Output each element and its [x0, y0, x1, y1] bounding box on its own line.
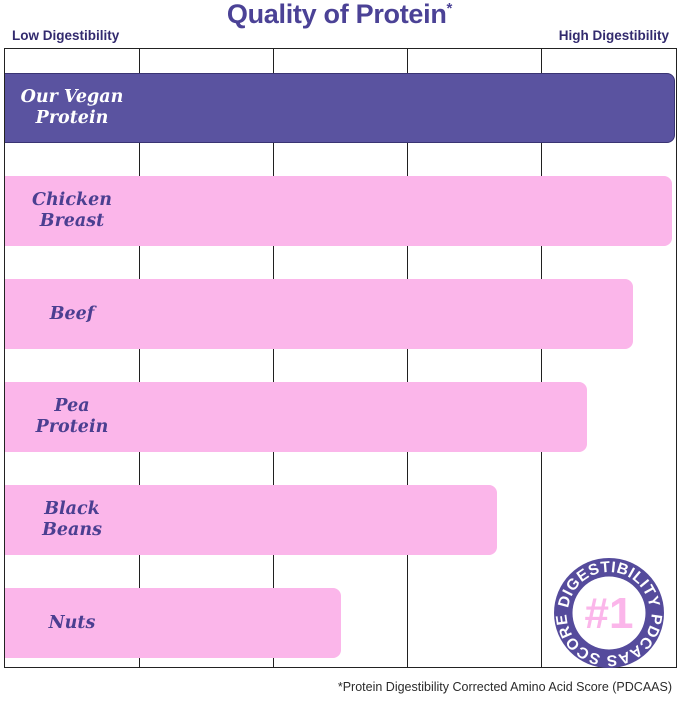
bar-label: Black Beans	[13, 499, 131, 540]
bar-label: Our Vegan Protein	[13, 87, 131, 128]
bar-label: Pea Protein	[13, 396, 131, 437]
bar-label: Beef	[13, 304, 131, 325]
bar-our-vegan-protein: Our Vegan Protein	[5, 73, 675, 143]
pdcaas-score-badge: DIGESTIBILITY PDCAAS SCORE #1	[552, 556, 666, 670]
chart-title: Quality of Protein*	[0, 0, 679, 30]
axis-label-low-digestibility: Low Digestibility	[12, 28, 119, 43]
bar-label: Nuts	[13, 613, 131, 634]
bar-black-beans: Black Beans	[5, 485, 497, 555]
chart-title-text: Quality of Protein	[227, 0, 447, 29]
bar-chicken-breast: Chicken Breast	[5, 176, 672, 246]
bar-nuts: Nuts	[5, 588, 341, 658]
bar-pea-protein: Pea Protein	[5, 382, 587, 452]
axis-label-high-digestibility: High Digestibility	[559, 28, 669, 43]
chart-title-footnote-marker: *	[447, 0, 453, 17]
chart-footnote: *Protein Digestibility Corrected Amino A…	[0, 680, 672, 694]
badge-center-number: #1	[585, 589, 634, 638]
protein-quality-chart: Quality of Protein* Low Digestibility Hi…	[0, 0, 679, 703]
bar-beef: Beef	[5, 279, 633, 349]
bar-label: Chicken Breast	[13, 190, 131, 231]
